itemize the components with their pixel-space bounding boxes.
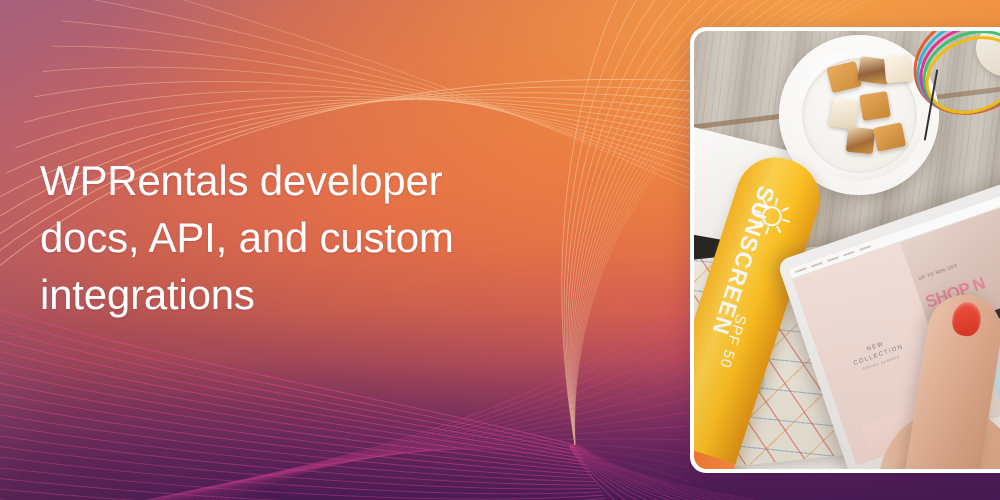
photo-shading-overlay: [694, 31, 1000, 469]
hero-photo-card: SUNSCREEN SPF 50 NEW C: [690, 27, 1000, 473]
hero-photo: SUNSCREEN SPF 50 NEW C: [694, 31, 1000, 469]
hero-banner: WPRentals developer docs, API, and custo…: [0, 0, 1000, 500]
hero-copy: WPRentals developer docs, API, and custo…: [40, 152, 560, 323]
page-title: WPRentals developer docs, API, and custo…: [40, 152, 560, 323]
